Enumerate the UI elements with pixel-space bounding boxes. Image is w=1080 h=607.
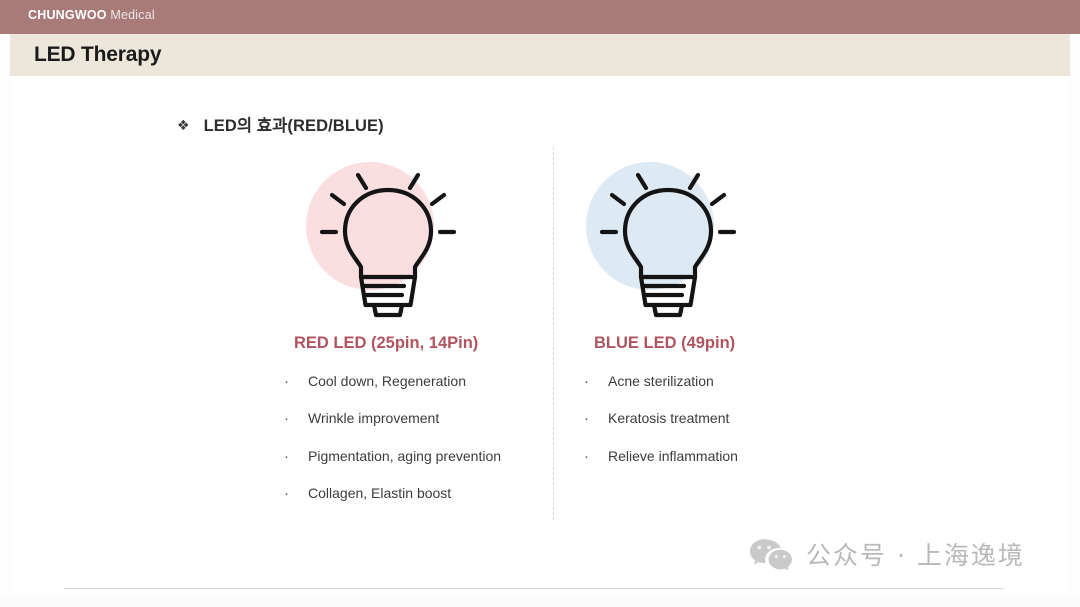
list-item-text: Pigmentation, aging prevention bbox=[308, 448, 501, 464]
lightbulb-icon bbox=[598, 156, 738, 324]
brand-name-light: Medical bbox=[110, 8, 154, 22]
list-item: · Cool down, Regeneration bbox=[284, 373, 486, 390]
bullet-marker-icon: · bbox=[284, 448, 308, 465]
bullet-marker-icon: · bbox=[284, 373, 308, 390]
list-item-text: Collagen, Elastin boost bbox=[308, 485, 451, 501]
watermark: 公众号 · 上海逸境 bbox=[748, 536, 1025, 572]
watermark-text: 公众号 · 上海逸境 bbox=[806, 536, 1025, 572]
list-item: · Collagen, Elastin boost bbox=[284, 485, 486, 502]
brand-logo: CHUNGWOO Medical bbox=[28, 8, 155, 22]
bullet-marker-icon: · bbox=[584, 410, 608, 427]
list-item-text: Acne sterilization bbox=[608, 373, 714, 389]
list-item: · Keratosis treatment bbox=[584, 410, 1000, 427]
title-band: LED Therapy bbox=[0, 34, 1080, 76]
list-item: · Pigmentation, aging prevention bbox=[284, 448, 486, 465]
list-item: · Acne sterilization bbox=[584, 373, 1000, 390]
slide-edge-left bbox=[0, 34, 10, 607]
footer-rule bbox=[64, 588, 1004, 589]
list-item: · Wrinkle improvement bbox=[284, 410, 486, 427]
blue-led-heading: BLUE LED (49pin) bbox=[594, 334, 1000, 353]
red-bulb-stage bbox=[300, 156, 470, 324]
slide-body: ❖ LED의 효과(RED/BLUE) bbox=[10, 76, 1070, 595]
column-blue-led: BLUE LED (49pin) · Acne sterilization · … bbox=[580, 156, 1000, 465]
slide-edge-bottom bbox=[0, 595, 1080, 607]
red-led-heading: RED LED (25pin, 14Pin) bbox=[294, 334, 486, 353]
title-band-inner bbox=[10, 34, 1080, 76]
column-divider bbox=[553, 147, 554, 520]
blue-led-bullet-list: · Acne sterilization · Keratosis treatme… bbox=[584, 373, 1000, 465]
bullet-marker-icon: · bbox=[284, 485, 308, 502]
blue-bulb-wrap bbox=[580, 156, 1000, 324]
lightbulb-icon bbox=[318, 156, 458, 324]
wechat-icon bbox=[748, 537, 794, 571]
slide-edge-right bbox=[1070, 34, 1080, 607]
brand-name-strong: CHUNGWOO bbox=[28, 8, 107, 22]
diamond-bullet-icon: ❖ bbox=[177, 118, 190, 132]
bullet-marker-icon: · bbox=[584, 448, 608, 465]
bullet-marker-icon: · bbox=[284, 410, 308, 427]
list-item-text: Cool down, Regeneration bbox=[308, 373, 466, 389]
red-bulb-wrap bbox=[66, 156, 486, 324]
list-item-text: Wrinkle improvement bbox=[308, 410, 439, 426]
section-heading-label: LED의 효과(RED/BLUE) bbox=[204, 112, 384, 136]
list-item-text: Keratosis treatment bbox=[608, 410, 729, 426]
page-title: LED Therapy bbox=[34, 43, 161, 67]
bullet-marker-icon: · bbox=[584, 373, 608, 390]
list-item-text: Relieve inflammation bbox=[608, 448, 738, 464]
column-red-led: RED LED (25pin, 14Pin) · Cool down, Rege… bbox=[66, 156, 486, 502]
blue-bulb-stage bbox=[580, 156, 750, 324]
list-item: · Relieve inflammation bbox=[584, 448, 1000, 465]
slide-canvas: CHUNGWOO Medical LED Therapy ❖ LED의 효과(R… bbox=[0, 0, 1080, 607]
section-heading: ❖ LED의 효과(RED/BLUE) bbox=[177, 112, 384, 136]
brand-bar: CHUNGWOO Medical bbox=[0, 0, 1080, 34]
red-led-bullet-list: · Cool down, Regeneration · Wrinkle impr… bbox=[284, 373, 486, 502]
